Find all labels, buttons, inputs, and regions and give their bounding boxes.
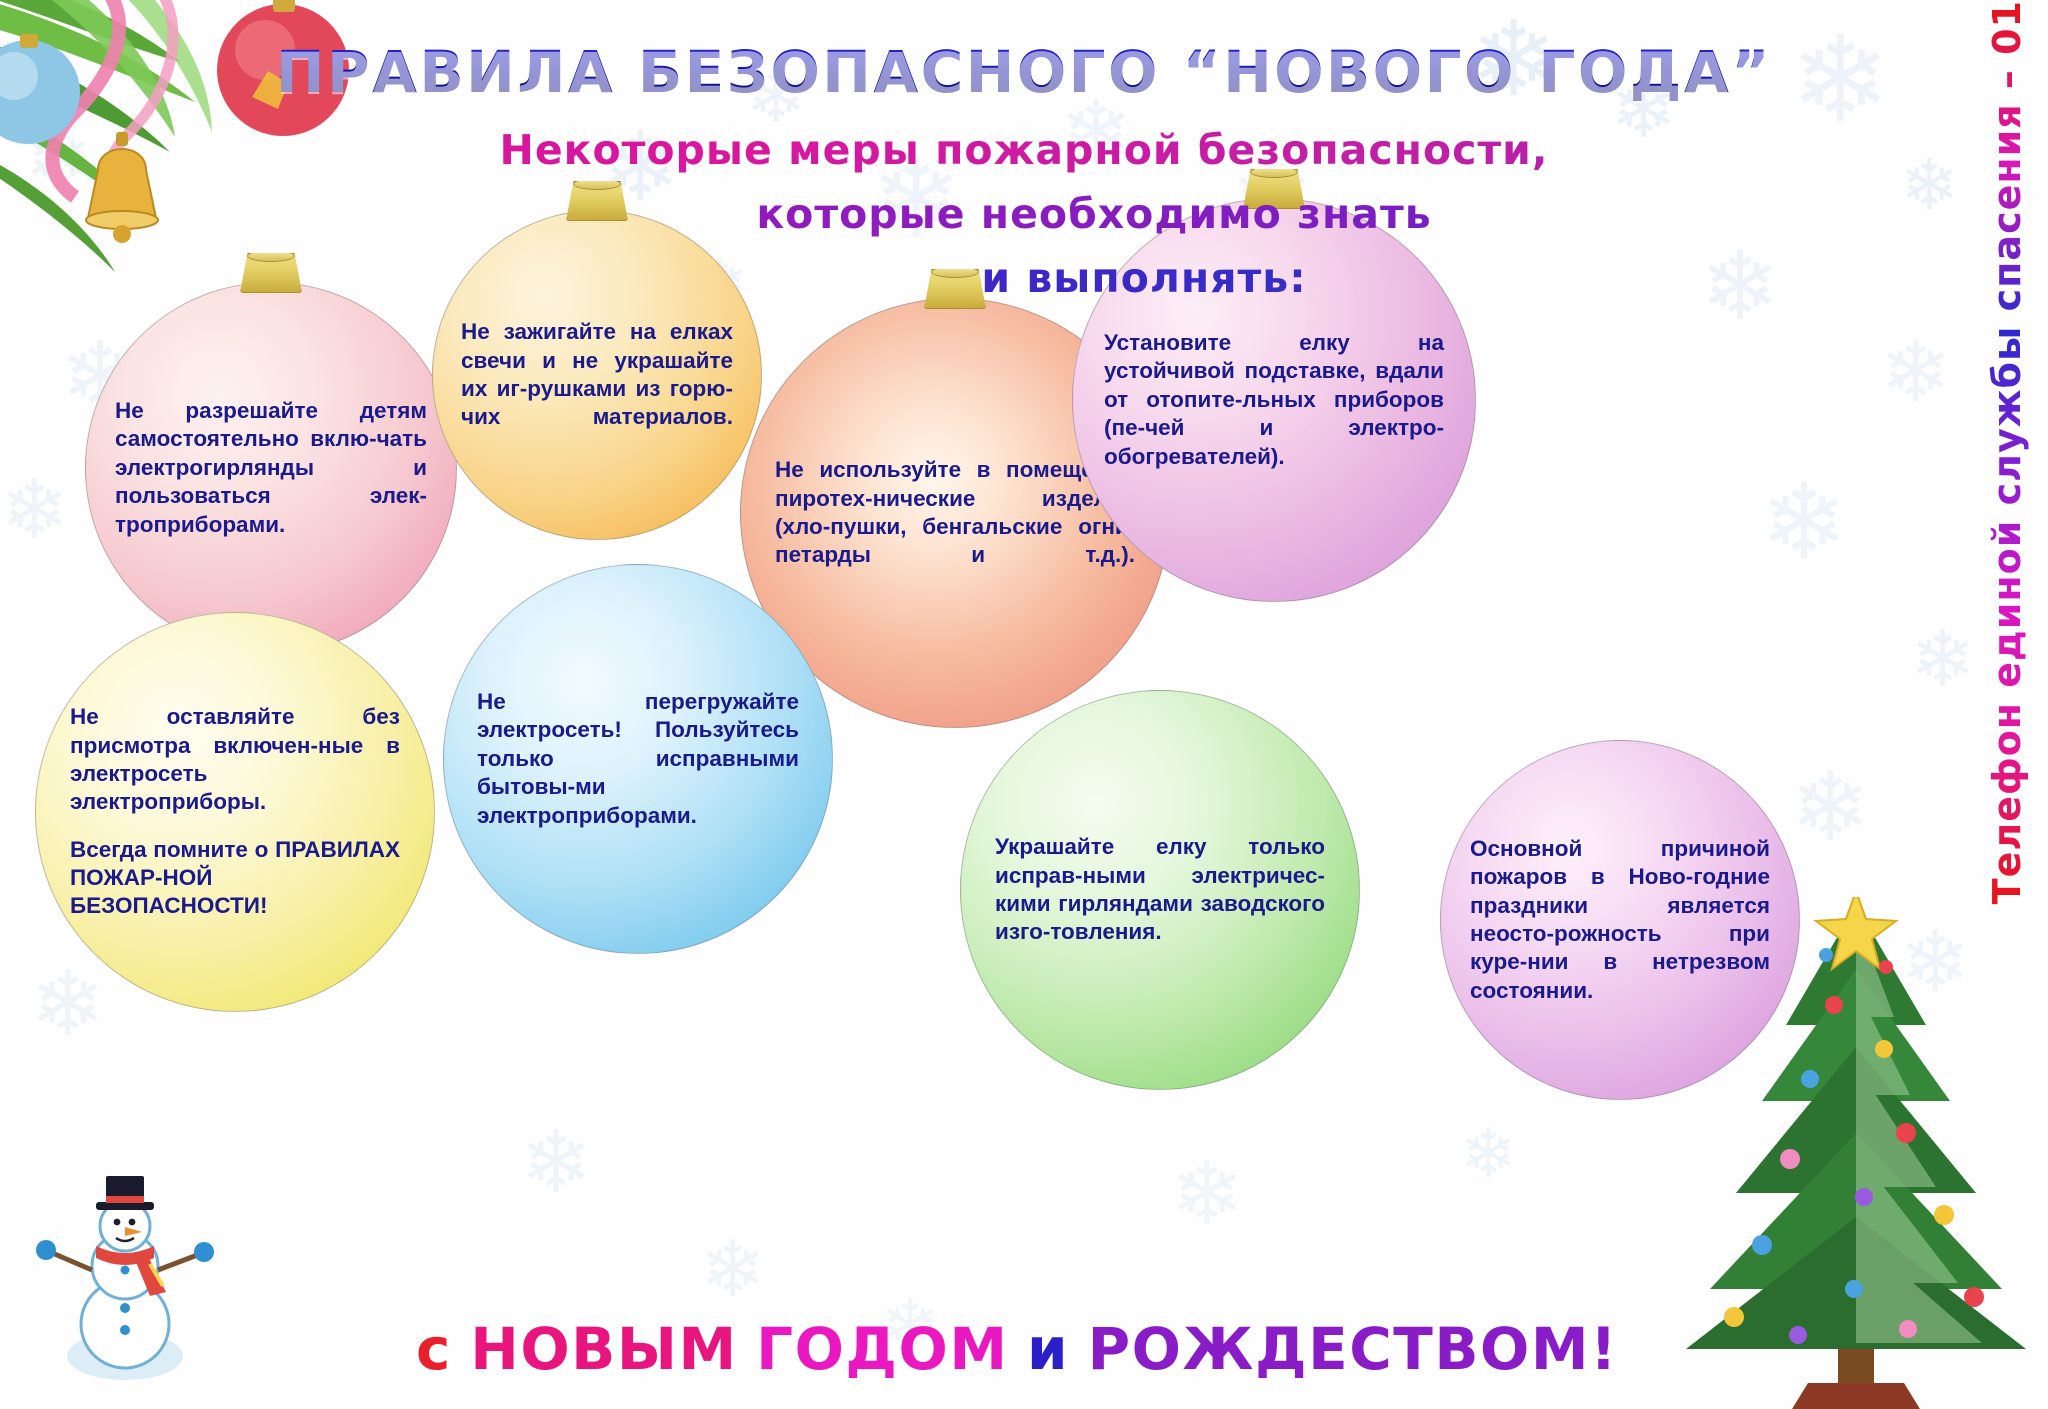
- safety-tip-text-6: Не перегружайте электросеть! Пользуйтесь…: [477, 688, 799, 830]
- emergency-hotline: Телефон единой службы спасения – 01: [1972, 0, 2042, 1190]
- safety-tip-ball-1: Не разрешайте детям самостоятельно вклю-…: [85, 282, 457, 654]
- tip-paragraph: Не разрешайте детям самостоятельно вклю-…: [115, 397, 427, 539]
- snowflake-icon: ❄: [700, 1230, 765, 1308]
- safety-tip-text-8: Основной причиной пожаров в Ново-годние …: [1470, 835, 1770, 1005]
- subtitle-line-1: Некоторые меры пожарной безопасности,: [0, 126, 2048, 174]
- tip-paragraph-emphasis: Всегда помните о ПРАВИЛАХ ПОЖАР-НОЙ БЕЗО…: [70, 836, 400, 921]
- snowflake-icon: ❄: [30, 960, 105, 1050]
- greeting-banner: с НОВЫМ ГОДОМ и РОЖДЕСТВОМ!: [0, 1315, 2048, 1383]
- greeting-part-1: с: [416, 1315, 452, 1383]
- poster-canvas: ❄ ❄ ❄ ❄ ❄ ❄ ❄ ❄ ❄ ❄ ❄ ❄ ❄ ❄ ❄ ❄ ❄ ❄ ❄ ❄ …: [0, 0, 2048, 1409]
- tip-paragraph: Не перегружайте электросеть! Пользуйтесь…: [477, 688, 799, 830]
- tip-paragraph: Не используйте в помещении пиротех-ничес…: [775, 456, 1135, 569]
- greeting-part-5: РОЖДЕСТВОМ!: [1088, 1315, 1618, 1383]
- snowflake-icon: ❄: [1900, 920, 1970, 1004]
- snowflake-icon: ❄: [1880, 330, 1951, 415]
- snowflake-icon: ❄: [520, 1120, 592, 1206]
- tip-paragraph: Основной причиной пожаров в Ново-годние …: [1470, 835, 1770, 1005]
- safety-tip-text-7: Украшайте елку только исправ-ными электр…: [995, 833, 1325, 946]
- subtitle-line-3: и выполнять:: [0, 254, 2048, 302]
- snowflake-icon: ❄: [1760, 470, 1848, 575]
- safety-tip-text-1: Не разрешайте детям самостоятельно вклю-…: [115, 397, 427, 539]
- snowflake-icon: ❄: [1790, 760, 1870, 856]
- safety-tip-text-4: Установите елку на устойчивой подставке,…: [1104, 329, 1444, 471]
- top-hat-icon: [96, 1176, 154, 1210]
- scarf: [96, 1246, 166, 1296]
- tip-paragraph: Украшайте елку только исправ-ными электр…: [995, 833, 1325, 946]
- tip-paragraph: Установите елку на устойчивой подставке,…: [1104, 329, 1444, 471]
- safety-tip-text-3: Не используйте в помещении пиротех-ничес…: [775, 456, 1135, 569]
- safety-tip-ball-7: Украшайте елку только исправ-ными электр…: [960, 690, 1360, 1090]
- safety-tip-text-2: Не зажигайте на елках свечи и не украшай…: [461, 318, 733, 431]
- safety-tip-text-5: Не оставляйте без присмотра включен-ные …: [70, 703, 400, 921]
- greeting-part-4: и: [1027, 1315, 1069, 1383]
- safety-tip-ball-8: Основной причиной пожаров в Ново-годние …: [1440, 740, 1800, 1100]
- snowflake-icon: ❄: [0, 470, 69, 552]
- snowflake-icon: ❄: [1460, 1120, 1517, 1188]
- safety-tip-ball-5: Не оставляйте без присмотра включен-ные …: [35, 612, 435, 1012]
- greeting-part-3: ГОДОМ: [756, 1315, 1008, 1383]
- greeting-part-2: НОВЫМ: [470, 1315, 737, 1383]
- tip-paragraph: Не зажигайте на елках свечи и не украшай…: [461, 318, 733, 431]
- headline-block: ПРАВИЛА БЕЗОПАСНОГО “НОВОГО ГОДА” Некото…: [0, 38, 2048, 302]
- snowflake-icon: ❄: [1170, 1150, 1244, 1238]
- hotline-text: Телефон единой службы спасения – 01: [1985, 0, 2029, 904]
- subtitle-line-2: которые необходимо знать: [0, 190, 2048, 238]
- tip-paragraph: Не оставляйте без присмотра включен-ные …: [70, 703, 400, 816]
- page-title: ПРАВИЛА БЕЗОПАСНОГО “НОВОГО ГОДА”: [0, 38, 2048, 106]
- snowflake-icon: ❄: [1910, 620, 1975, 698]
- safety-tip-ball-6: Не перегружайте электросеть! Пользуйтесь…: [443, 564, 833, 954]
- snowflake-icon: ❄: [1790, 1060, 1865, 1150]
